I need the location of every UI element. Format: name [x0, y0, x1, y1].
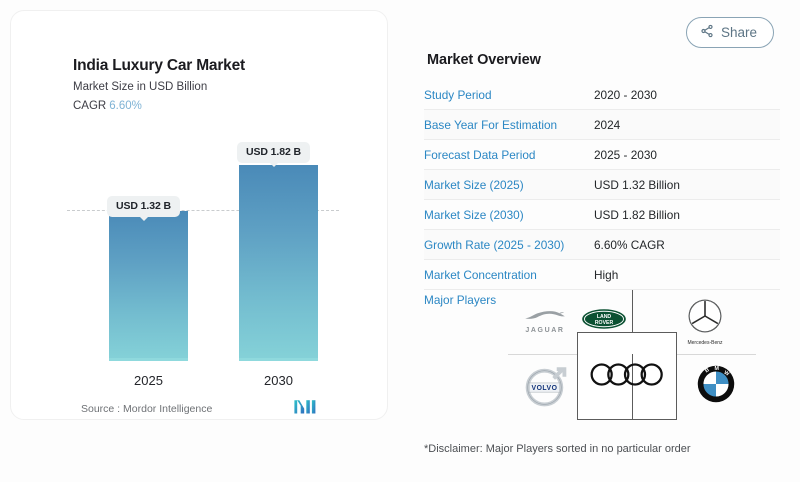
bar-chart-plot: USD 1.32 B USD 1.82 B 2025 2030 — [11, 11, 389, 421]
table-row: Market Concentration High — [424, 260, 780, 290]
overview-title: Market Overview — [427, 52, 541, 68]
player-cell-mercedes-benz[interactable]: Mercedes-Benz — [668, 294, 742, 350]
table-row: Growth Rate (2025 - 2030) 6.60% CAGR — [424, 230, 780, 260]
mordor-intelligence-logo — [293, 398, 321, 415]
bar-2025-value-label: USD 1.32 B — [107, 196, 180, 217]
table-row: Market Size (2025) USD 1.32 Billion — [424, 170, 780, 200]
svg-text:ROVER: ROVER — [595, 320, 614, 326]
bar-2030-base — [239, 358, 318, 361]
audi-logo — [587, 361, 667, 393]
row-key: Forecast Data Period — [424, 148, 594, 162]
jaguar-wordmark: JAGUAR — [525, 327, 564, 334]
row-key: Study Period — [424, 88, 594, 102]
row-key: Base Year For Estimation — [424, 118, 594, 132]
player-cell-bmw[interactable]: B M W — [688, 360, 744, 412]
row-value: 2025 - 2030 — [594, 148, 657, 162]
svg-text:LAND: LAND — [597, 313, 612, 319]
bar-2030-value-label: USD 1.82 B — [237, 142, 310, 163]
grid-divider-vertical-top — [632, 290, 633, 334]
row-value: USD 1.82 Billion — [594, 208, 680, 222]
player-cell-audi[interactable] — [580, 352, 674, 402]
share-nodes-icon — [700, 24, 714, 41]
major-players-logo-grid: JAGUAR LAND ROVER — [508, 290, 756, 420]
svg-text:M: M — [714, 365, 719, 371]
player-cell-jaguar[interactable]: JAGUAR — [514, 298, 576, 344]
volvo-logo: VOLVO — [523, 363, 569, 414]
mercedes-benz-caption: Mercedes-Benz — [687, 340, 722, 346]
table-row: Study Period 2020 - 2030 — [424, 80, 780, 110]
row-value: USD 1.32 Billion — [594, 178, 680, 192]
table-row: Market Size (2030) USD 1.82 Billion — [424, 200, 780, 230]
svg-text:VOLVO: VOLVO — [532, 385, 558, 392]
row-value: 2024 — [594, 118, 620, 132]
x-axis-label-2030: 2030 — [239, 373, 318, 388]
bar-2030[interactable] — [239, 165, 318, 361]
row-key: Market Size (2025) — [424, 178, 594, 192]
x-axis-label-2025: 2025 — [109, 373, 188, 388]
row-value: 6.60% CAGR — [594, 238, 665, 252]
row-value: 2020 - 2030 — [594, 88, 657, 102]
player-cell-volvo[interactable]: VOLVO — [516, 360, 576, 416]
row-key: Market Size (2030) — [424, 208, 594, 222]
report-snapshot: India Luxury Car Market Market Size in U… — [0, 0, 800, 482]
bar-2025[interactable] — [109, 211, 188, 361]
chart-source: Source : Mordor Intelligence — [81, 403, 212, 415]
bar-2025-base — [109, 358, 188, 361]
table-row: Base Year For Estimation 2024 — [424, 110, 780, 140]
table-row: Forecast Data Period 2025 - 2030 — [424, 140, 780, 170]
share-button-label: Share — [721, 25, 757, 40]
mercedes-benz-logo — [687, 298, 723, 339]
share-button[interactable]: Share — [686, 17, 774, 48]
row-value: High — [594, 268, 618, 282]
disclaimer-text: *Disclaimer: Major Players sorted in no … — [424, 443, 691, 455]
row-key: Market Concentration — [424, 268, 594, 282]
bmw-logo: B M W — [697, 365, 735, 408]
chart-card: India Luxury Car Market Market Size in U… — [10, 10, 388, 420]
row-key: Growth Rate (2025 - 2030) — [424, 238, 594, 252]
major-players-label: Major Players — [424, 293, 496, 307]
overview-table: Study Period 2020 - 2030 Base Year For E… — [424, 80, 780, 290]
jaguar-logo — [523, 308, 567, 328]
